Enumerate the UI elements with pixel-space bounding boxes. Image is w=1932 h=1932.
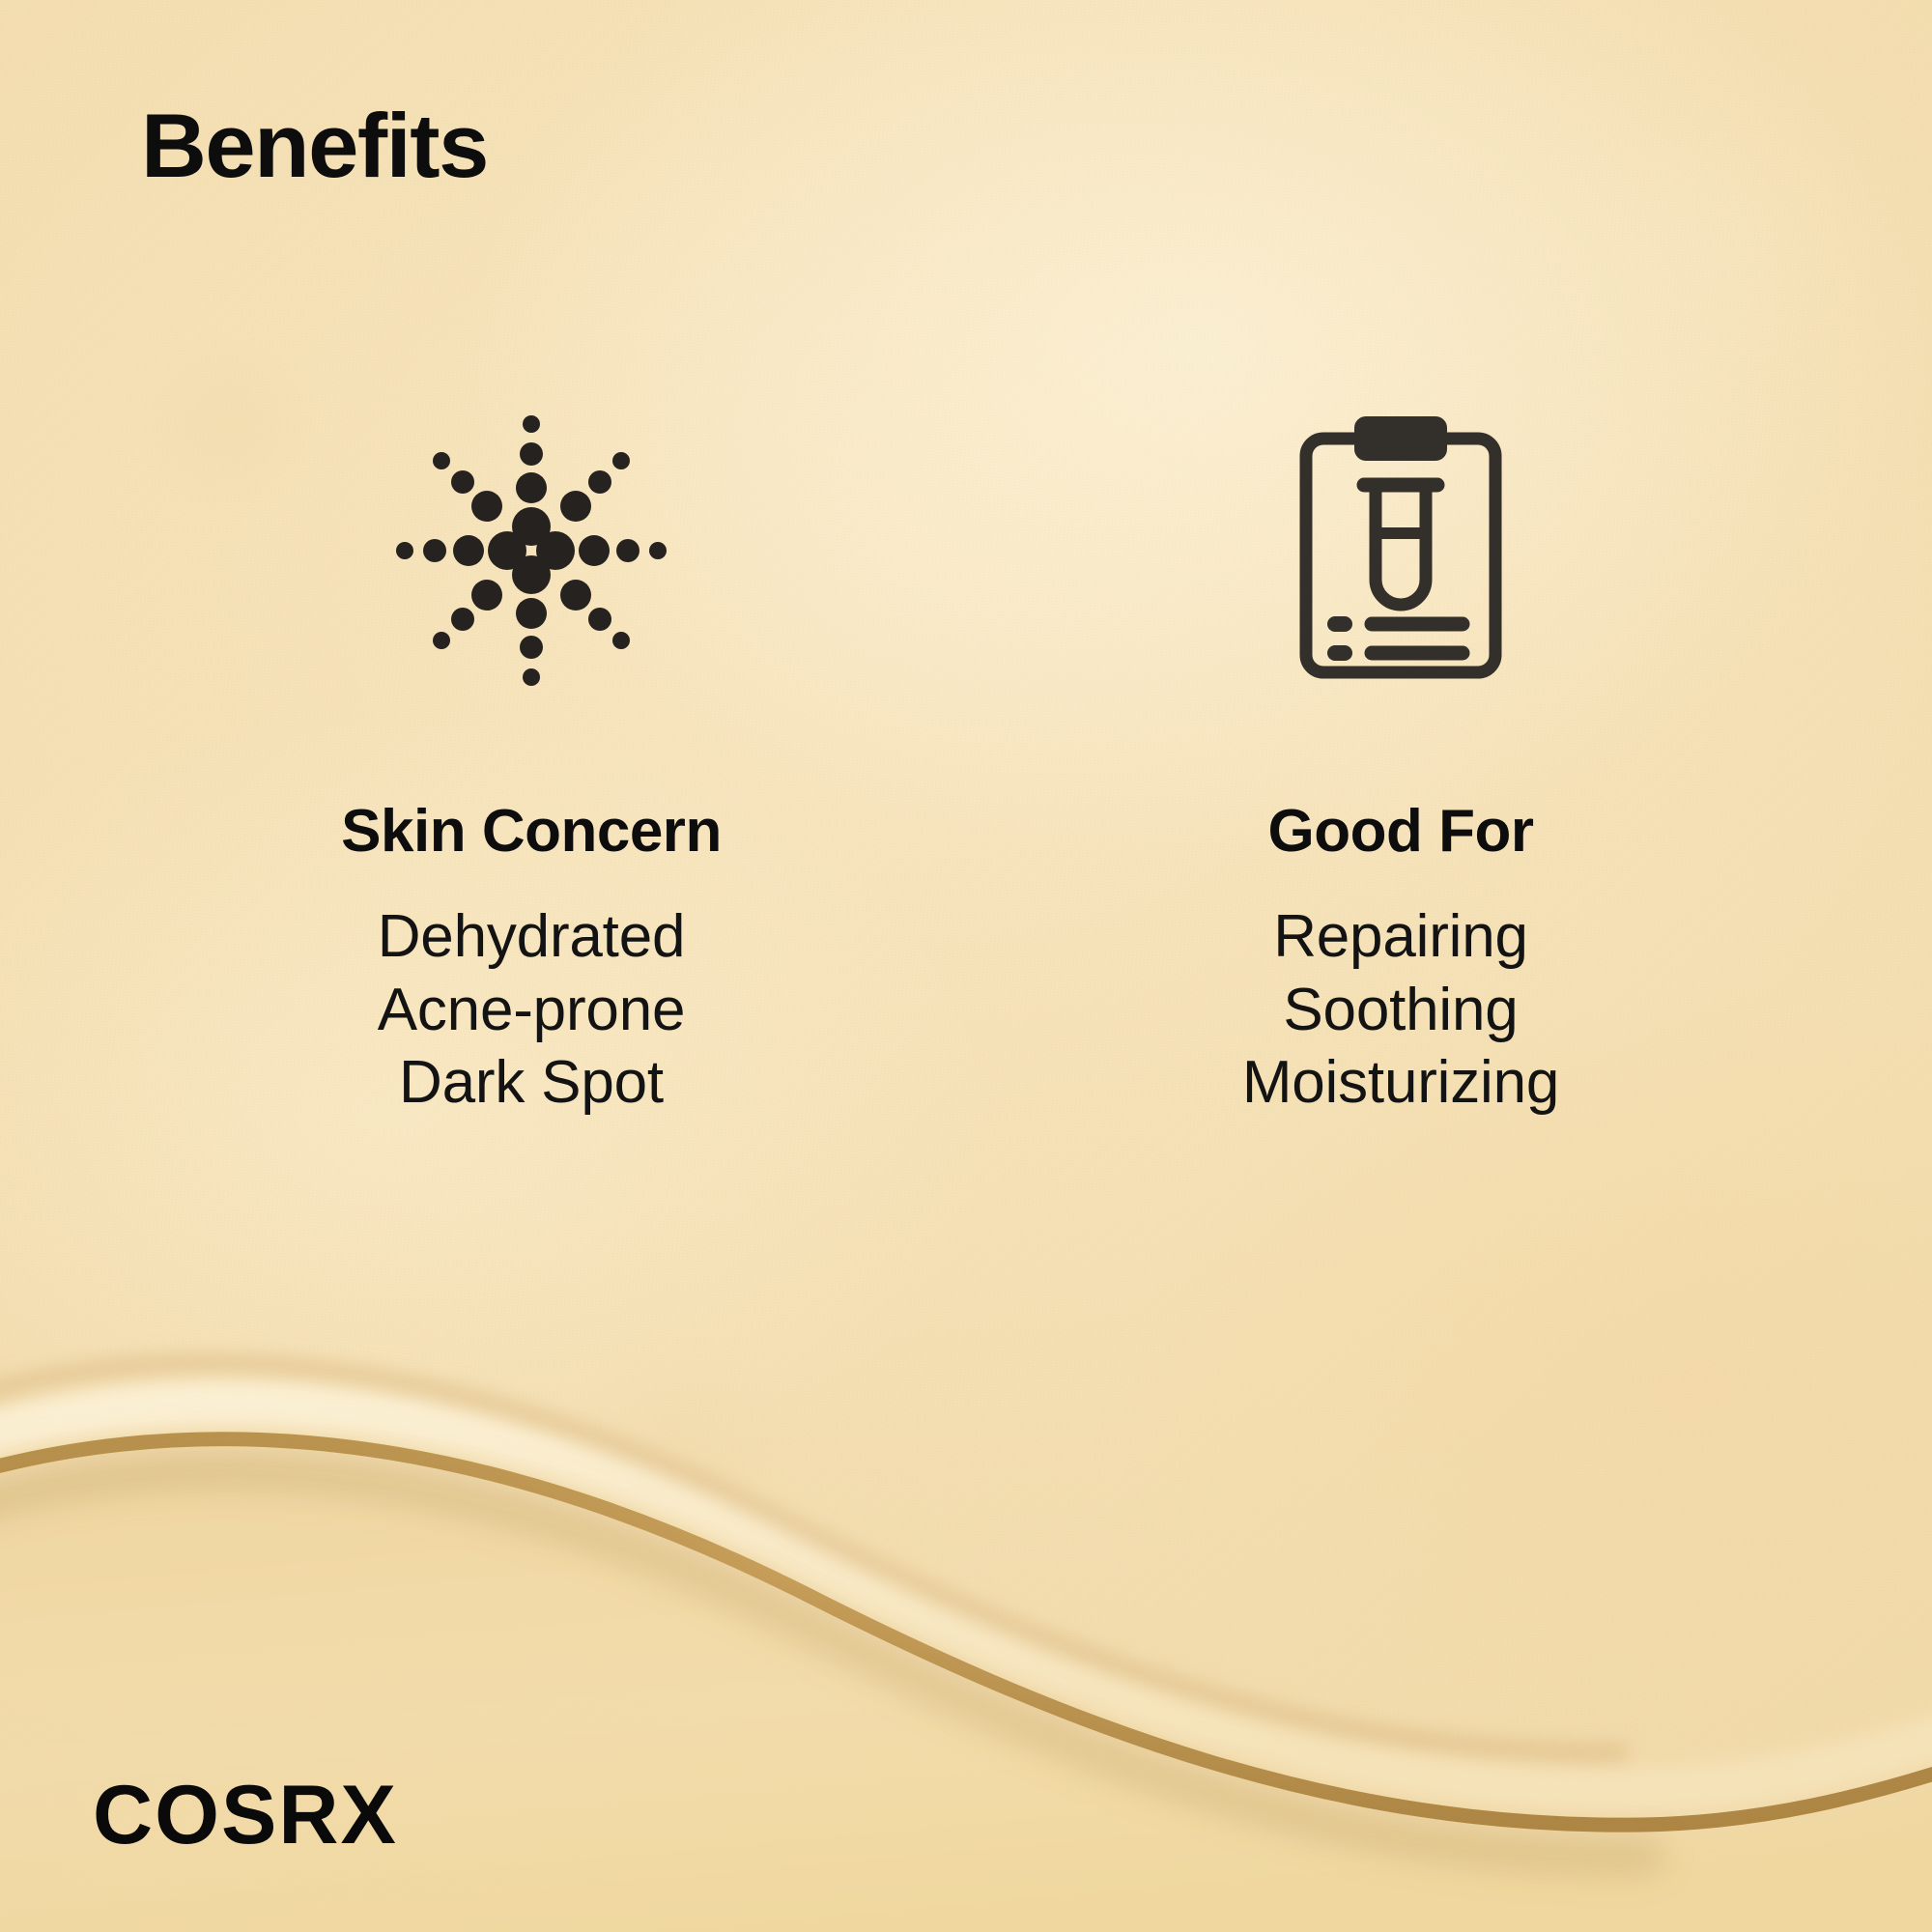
benefits-columns: Skin Concern Dehydrated Acne-prone Dark … [0,406,1932,1120]
page-title: Benefits [141,100,488,191]
list-item: Repairing [1242,900,1559,974]
benefit-list-good-for: Repairing Soothing Moisturizing [1242,900,1559,1120]
starburst-dotted-icon [386,406,676,696]
benefits-card: Benefits [0,0,1932,1932]
list-item: Soothing [1242,974,1559,1047]
column-heading-good-for: Good For [1268,802,1534,862]
list-item: Dark Spot [378,1046,686,1120]
column-heading-skin-concern: Skin Concern [341,802,722,862]
list-item: Moisturizing [1242,1046,1559,1120]
brand-logo-cosrx: COSRX [93,1774,398,1857]
list-item: Dehydrated [378,900,686,974]
clipboard-test-tube-icon [1256,406,1546,696]
benefit-column-skin-concern: Skin Concern Dehydrated Acne-prone Dark … [222,406,840,1120]
list-item: Acne-prone [378,974,686,1047]
benefit-column-good-for: Good For Repairing Soothing Moisturizing [1092,406,1710,1120]
benefit-list-skin-concern: Dehydrated Acne-prone Dark Spot [378,900,686,1120]
